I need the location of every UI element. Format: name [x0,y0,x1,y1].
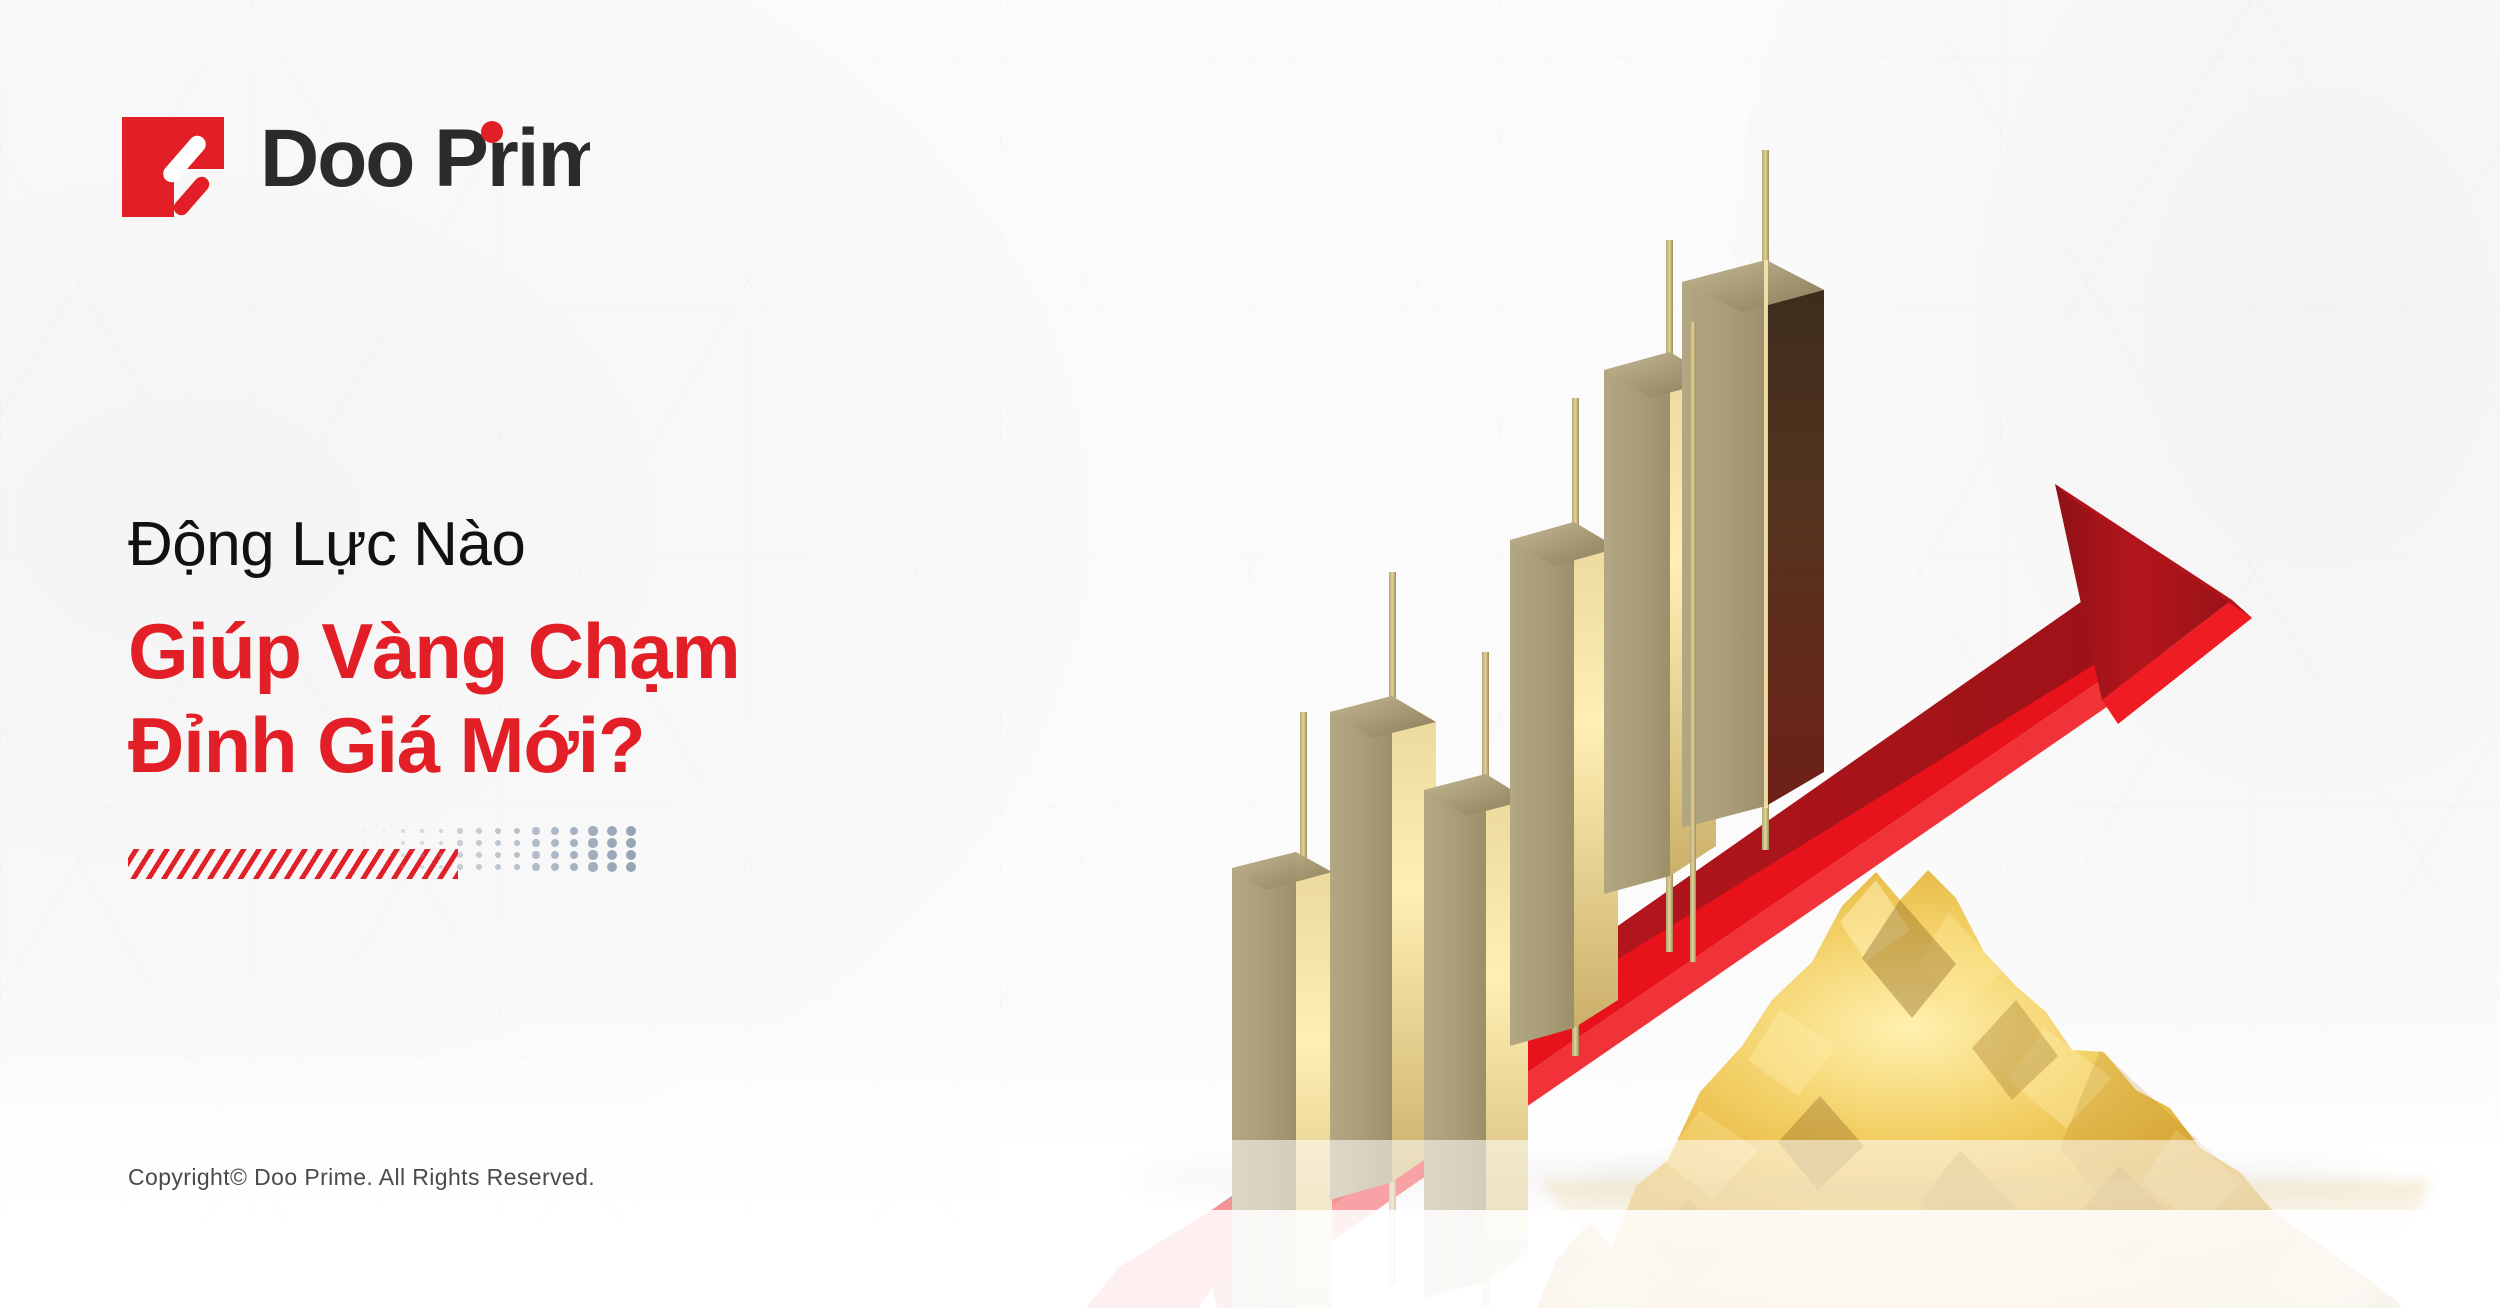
dot [626,850,637,861]
dot [626,826,637,837]
dot [532,827,539,834]
dot [439,865,443,869]
dot [439,841,443,845]
dot [588,826,597,835]
candle-6 [1682,150,1824,850]
dot [383,842,386,845]
dot [457,852,462,857]
dot [607,826,617,836]
dot [551,839,559,847]
dot [420,865,424,869]
dot [457,864,462,869]
dot [476,852,482,858]
dot [626,862,637,873]
dot [607,850,617,860]
dot [570,839,579,848]
dot [532,851,539,858]
dot [439,853,443,857]
dot [551,863,559,871]
dot [588,862,597,871]
dot [551,851,559,859]
dot [495,828,501,834]
dot [401,853,404,856]
headline-line-2: Giúp Vàng Chạm [128,605,1048,699]
dot [364,866,366,868]
dot [364,842,366,844]
dot [607,862,617,872]
dot [514,840,521,847]
dot [476,828,482,834]
dot [420,829,424,833]
dot [420,853,424,857]
decorative-rule [128,826,648,882]
dot [457,840,462,845]
dot [570,827,579,836]
dot [401,841,404,844]
promo-banner: Doo Prime Động Lực Nào Giúp Vàng Chạm Đỉ… [0,0,2500,1308]
dot [476,864,482,870]
dot [514,828,521,835]
dot [588,838,597,847]
dot [570,863,579,872]
dot [439,829,443,833]
headline-block: Động Lực Nào Giúp Vàng Chạm Đỉnh Giá Mới… [128,508,1048,792]
candle-4 [1510,398,1618,1056]
dot [495,840,501,846]
dot [476,840,482,846]
dot [383,830,386,833]
dot [383,866,386,869]
dot [420,841,424,845]
dot [607,838,617,848]
dot [532,839,539,846]
svg-text:Doo Prime: Doo Prime [260,113,590,204]
dot [551,827,559,835]
dot [514,864,521,871]
dot [383,854,386,857]
dot [364,854,366,856]
dot [364,830,366,832]
dot [401,829,404,832]
dot [495,852,501,858]
headline-line-1: Động Lực Nào [128,508,1048,581]
dot [626,838,637,849]
brand-logo[interactable]: Doo Prime [122,112,590,221]
dot [401,865,404,868]
dot [570,851,579,860]
headline-line-3: Đỉnh Giá Mới? [128,699,1048,793]
dot [457,828,462,833]
dot [588,850,597,859]
dot-grid [360,826,650,876]
copyright-text: Copyright© Doo Prime. All Rights Reserve… [128,1164,595,1191]
brand-wordmark: Doo Prime [260,112,590,221]
dot [495,864,501,870]
doo-prime-mark-icon [122,117,224,217]
dot [514,852,521,859]
artwork-stage [1000,0,2500,1308]
dot [532,863,539,870]
